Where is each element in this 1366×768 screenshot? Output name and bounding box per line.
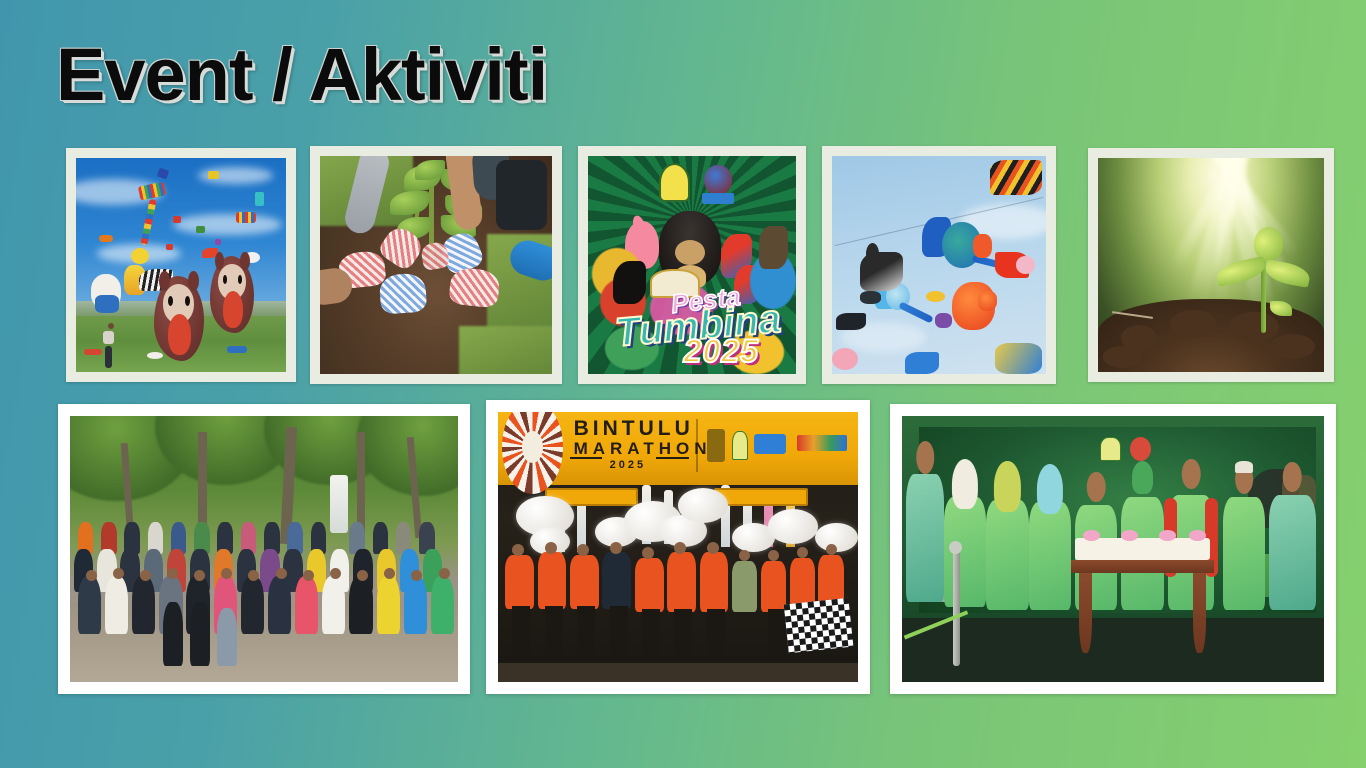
marathon-arch-banner: BINTULU MARATHON 2025 xyxy=(498,412,858,485)
sponsor-logo-crest xyxy=(707,429,725,461)
poster-logo-globe xyxy=(704,165,731,196)
photo-bintulu-marathon: BINTULU MARATHON 2025 xyxy=(498,412,858,682)
marathon-banner-line2: MARATHON xyxy=(574,440,712,457)
gallery-card-community-run[interactable] xyxy=(58,404,470,694)
gallery-card-cake-ceremony[interactable] xyxy=(890,404,1336,694)
photo-community-run xyxy=(70,416,458,682)
poster-logo-council xyxy=(659,163,690,202)
marathon-banner-line1: BINTULU xyxy=(574,418,694,439)
gallery-card-pesta-tumbina[interactable]: Pesta Tumbina 2025 xyxy=(578,146,806,384)
photo-kites-sky xyxy=(832,156,1046,374)
sponsor-logo-sarawak xyxy=(797,435,847,451)
gallery-card-kites-sky[interactable] xyxy=(822,146,1056,384)
page-title: Event / Aktiviti xyxy=(56,38,547,112)
poster-text-year: 2025 xyxy=(684,335,759,367)
gallery-card-bintulu-marathon[interactable]: BINTULU MARATHON 2025 xyxy=(486,400,870,694)
marathon-banner-year: 2025 xyxy=(610,460,646,471)
ceremonial-cake xyxy=(1075,538,1210,559)
photo-pesta-tumbina-poster: Pesta Tumbina 2025 xyxy=(588,156,796,374)
photo-seedling xyxy=(1098,158,1324,372)
gallery-card-seedling[interactable] xyxy=(1088,148,1334,382)
sponsor-logo-bintulu-port xyxy=(754,434,786,454)
marathon-sunburst-logo xyxy=(502,412,563,494)
checkered-flag xyxy=(784,598,854,653)
photo-cake-ceremony xyxy=(902,416,1324,682)
gallery-card-kite-festival[interactable] xyxy=(66,148,296,382)
gallery-card-tree-planting[interactable] xyxy=(310,146,562,384)
stanchion-post xyxy=(953,549,960,666)
slide-root: Event / Aktiviti xyxy=(0,0,1366,768)
sponsor-logo-council xyxy=(732,431,748,460)
photo-kite-festival xyxy=(76,158,286,372)
photo-tree-planting xyxy=(320,156,552,374)
